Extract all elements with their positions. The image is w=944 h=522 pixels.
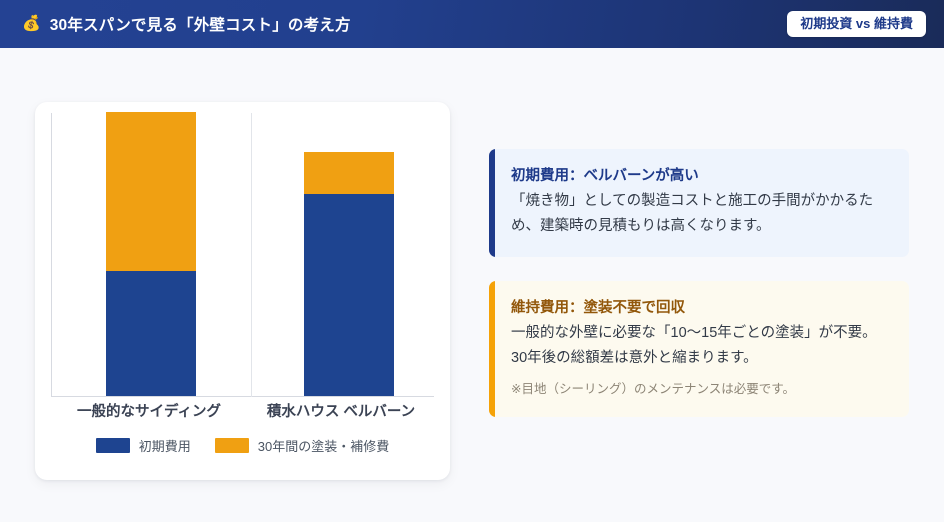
info-card-initial-cost: 初期費用：ベルバーンが高い 「焼き物」としての製造コストと施工の手間がかかるため… [489, 149, 909, 257]
infographic-page: 💰 30年スパンで見る「外壁コスト」の考え方 初期投資 vs 維持費 [0, 0, 944, 522]
accent-bar [489, 149, 495, 257]
page-content: 一般的なサイディング 積水ハウス ベルバーン 初期費用 30年間の塗装・補修費 … [0, 48, 944, 522]
bar-group-siding[interactable] [106, 112, 196, 396]
bar-segment-initial[interactable] [304, 194, 394, 396]
bar-segment-maintenance[interactable] [304, 152, 394, 195]
x-tick-label: 積水ハウス ベルバーン [246, 400, 436, 421]
legend-swatch-icon [215, 438, 249, 453]
accent-bar [489, 281, 495, 417]
info-card-body: 一般的な外壁に必要な「10〜15年ごとの塗装」が不要。30年後の総額差は意外と縮… [511, 321, 887, 371]
legend-label: 30年間の塗装・補修費 [258, 436, 389, 455]
bar-segment-initial[interactable] [106, 271, 196, 396]
legend-item-initial[interactable]: 初期費用 [96, 436, 191, 455]
info-card-column: 初期費用：ベルバーンが高い 「焼き物」としての製造コストと施工の手間がかかるため… [489, 149, 909, 417]
legend-swatch-icon [96, 438, 130, 453]
category-divider [251, 113, 252, 397]
bar-segment-maintenance[interactable] [106, 112, 196, 271]
y-axis-line [51, 113, 52, 397]
chart-plot-area [51, 113, 434, 397]
status-badge: 初期投資 vs 維持費 [787, 11, 926, 37]
money-bag-icon: 💰 [22, 16, 41, 31]
chart-card: 一般的なサイディング 積水ハウス ベルバーン 初期費用 30年間の塗装・補修費 [35, 102, 450, 480]
x-tick-label: 一般的なサイディング [54, 400, 244, 421]
page-header: 💰 30年スパンで見る「外壁コスト」の考え方 初期投資 vs 維持費 [0, 0, 944, 48]
info-card-title: 維持費用：塗装不要で回収 [511, 298, 887, 319]
legend-item-maintenance[interactable]: 30年間の塗装・補修費 [215, 436, 389, 455]
legend-label: 初期費用 [139, 436, 191, 455]
page-title: 30年スパンで見る「外壁コスト」の考え方 [50, 13, 351, 35]
info-card-note: ※目地（シーリング）のメンテナンスは必要です。 [511, 379, 887, 399]
header-title-group: 💰 30年スパンで見る「外壁コスト」の考え方 [22, 13, 787, 35]
x-axis-labels: 一般的なサイディング 積水ハウス ベルバーン [51, 400, 434, 422]
x-axis-line [51, 396, 434, 397]
chart-legend: 初期費用 30年間の塗装・補修費 [35, 436, 450, 455]
info-card-body: 「焼き物」としての製造コストと施工の手間がかかるため、建築時の見積もりは高くなり… [511, 189, 887, 239]
info-card-maintenance-cost: 維持費用：塗装不要で回収 一般的な外壁に必要な「10〜15年ごとの塗装」が不要。… [489, 281, 909, 417]
bar-group-bellburn[interactable] [304, 152, 394, 396]
info-card-title: 初期費用：ベルバーンが高い [511, 166, 887, 187]
